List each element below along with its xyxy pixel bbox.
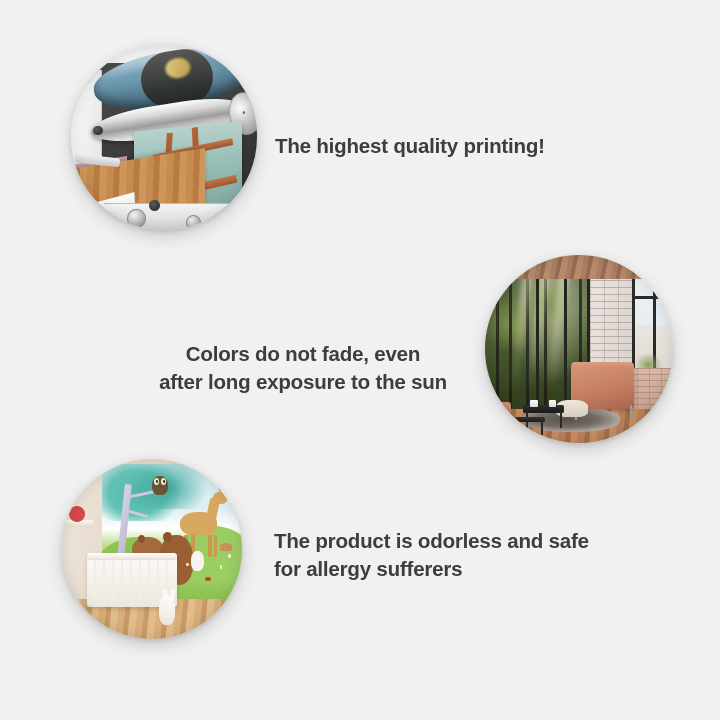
printing-press-scene [71, 44, 257, 230]
crib-bar [157, 556, 159, 599]
feature-caption-odorless-and-safe: The product is odorless and safe for all… [274, 528, 589, 583]
flower-dot [197, 557, 200, 561]
loft-interior-scene [485, 255, 673, 443]
cup [549, 400, 557, 408]
bear-ear [138, 535, 145, 543]
crib-bar [103, 556, 105, 599]
flower-dot [228, 554, 231, 558]
table-leg [519, 420, 521, 435]
window-frame [632, 296, 673, 299]
loft-interior-photo [485, 255, 673, 443]
machine-knob-dark [93, 126, 102, 135]
deer-body [180, 512, 217, 536]
table-leg [560, 411, 562, 428]
owl-eye [161, 478, 166, 484]
tree-trunk [509, 263, 512, 425]
deer-leg [208, 535, 212, 557]
floor-rabbit-toy [159, 596, 175, 625]
deer-antler [224, 481, 229, 492]
feature-caption-quality-printing: The highest quality printing! [275, 133, 545, 161]
owl-eye [154, 478, 159, 484]
crib-bar [148, 556, 150, 599]
cup [530, 400, 538, 408]
feature-caption-colors-do-not-fade: Colors do not fade, even after long expo… [155, 341, 451, 396]
crib-bar [139, 556, 141, 599]
nursery-scene [62, 459, 242, 639]
tree-canopy [127, 464, 208, 509]
printing-press-photo [71, 44, 257, 230]
feature-collage: The highest quality printing! [0, 0, 720, 720]
plant [635, 353, 661, 368]
machine-knob [127, 209, 146, 228]
crib-bar [121, 556, 123, 599]
mushroom [220, 543, 233, 551]
crib-top-rail [87, 554, 177, 559]
deer-leg [214, 535, 218, 557]
side-chair [485, 402, 511, 425]
crib-bar [112, 556, 114, 599]
coffee-table [523, 405, 564, 413]
nursery-photo [62, 459, 242, 639]
sofa-leg [630, 405, 632, 420]
deer-antler [217, 481, 223, 492]
bear-ear [163, 532, 171, 542]
flower-dot [186, 563, 189, 567]
table-leg [541, 420, 543, 435]
tree-trunk [496, 263, 499, 425]
wood-ceiling [508, 255, 673, 279]
crib-bar [130, 556, 132, 599]
crib-bar [94, 556, 96, 599]
mural-rabbit [191, 551, 204, 571]
